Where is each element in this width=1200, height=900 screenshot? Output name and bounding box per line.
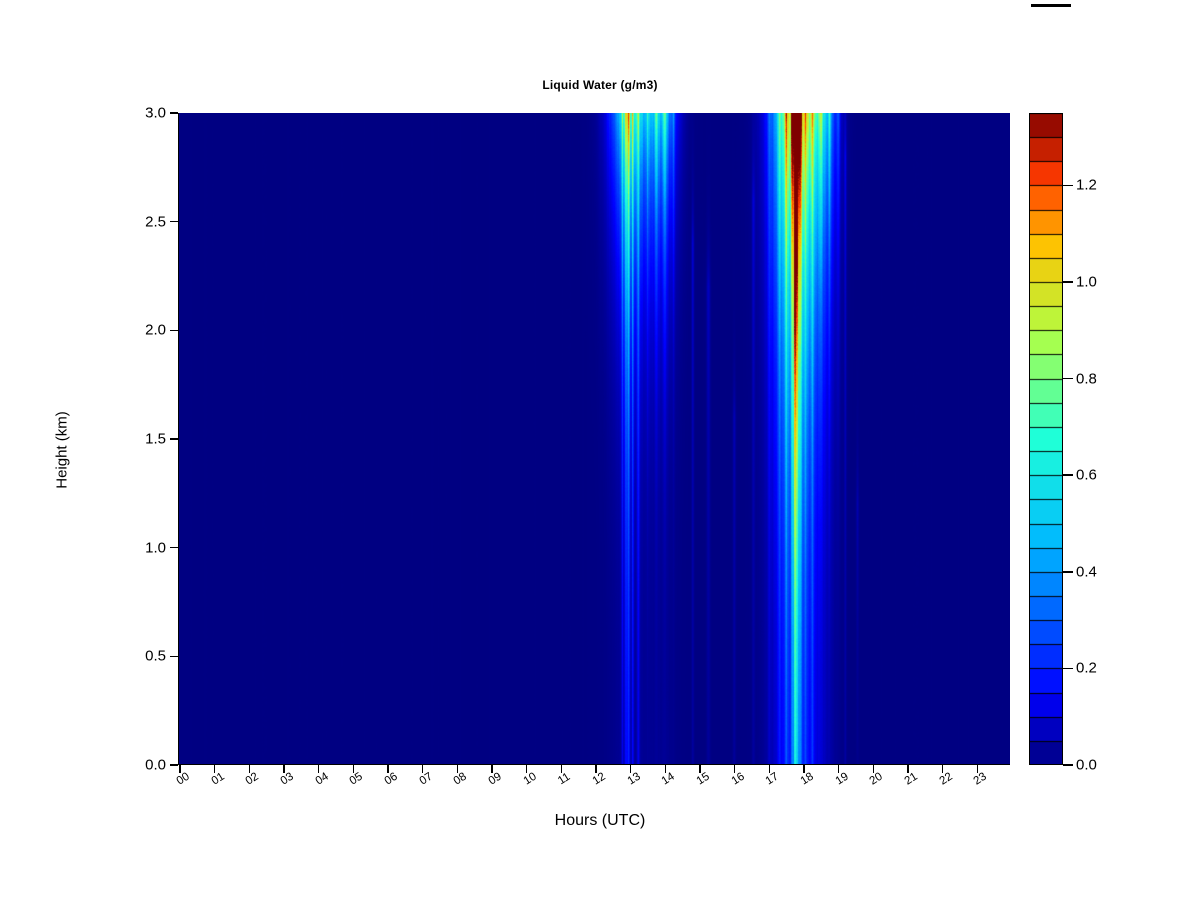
x-tick-mark <box>249 765 251 773</box>
colorbar-tick-label: 0.8 <box>1076 370 1097 387</box>
x-tick-mark <box>526 765 528 773</box>
x-tick-label: 10 <box>521 771 538 788</box>
y-tick-mark <box>170 656 178 658</box>
y-tick-mark <box>170 547 178 549</box>
colorbar-tick-mark <box>1063 764 1073 766</box>
x-tick-label: 16 <box>729 771 746 788</box>
y-tick-label: 3.0 <box>145 105 166 122</box>
x-tick-label: 21 <box>903 771 920 788</box>
y-tick-mark <box>170 112 178 114</box>
x-tick-label: 03 <box>279 771 296 788</box>
x-tick-mark <box>838 765 840 773</box>
x-tick-label: 04 <box>313 771 330 788</box>
x-tick-label: 06 <box>383 771 400 788</box>
x-axis-tick-marks <box>178 765 1010 773</box>
x-tick-mark <box>942 765 944 773</box>
y-tick-label: 1.5 <box>145 431 166 448</box>
plot-title: Liquid Water (g/m3) <box>0 78 1200 92</box>
top-right-marker <box>1031 4 1071 7</box>
colorbar-tick-label: 1.2 <box>1076 177 1097 194</box>
x-tick-label: 22 <box>937 771 954 788</box>
x-tick-label: 11 <box>556 771 572 788</box>
x-tick-mark <box>214 765 216 773</box>
y-tick-label: 1.0 <box>145 539 166 556</box>
colorbar-tick-label: 0.6 <box>1076 467 1097 484</box>
x-tick-label: 15 <box>695 771 712 788</box>
colorbar-tick-mark <box>1063 185 1073 187</box>
x-tick-label: 12 <box>591 771 608 788</box>
x-tick-mark <box>803 765 805 773</box>
colorbar-tick-mark <box>1063 474 1073 476</box>
colorbar-tick-marks <box>1063 113 1073 765</box>
colorbar-frame <box>1029 113 1063 765</box>
x-tick-mark <box>283 765 285 773</box>
x-tick-mark <box>699 765 701 773</box>
y-tick-label: 0.5 <box>145 648 166 665</box>
x-tick-mark <box>353 765 355 773</box>
x-tick-label: 05 <box>348 771 365 788</box>
x-tick-label: 20 <box>868 771 885 788</box>
x-tick-mark <box>422 765 424 773</box>
colorbar-tick-mark <box>1063 281 1073 283</box>
colorbar-tick-label: 0.2 <box>1076 660 1097 677</box>
x-tick-mark <box>907 765 909 773</box>
x-tick-label: 23 <box>972 771 989 788</box>
x-axis-title: Hours (UTC) <box>0 812 1200 830</box>
colorbar[interactable] <box>1029 113 1063 765</box>
colorbar-tick-mark <box>1063 378 1073 380</box>
x-tick-mark <box>561 765 563 773</box>
y-tick-mark <box>170 764 178 766</box>
x-tick-label: 08 <box>452 771 469 788</box>
x-tick-mark <box>387 765 389 773</box>
x-tick-mark <box>630 765 632 773</box>
figure-canvas: Liquid Water (g/m3) 0.00.51.01.52.02.53.… <box>0 0 1200 900</box>
x-tick-mark <box>769 765 771 773</box>
y-tick-mark <box>170 221 178 223</box>
x-tick-label: 00 <box>175 771 192 788</box>
x-tick-mark <box>491 765 493 773</box>
x-tick-label: 19 <box>833 771 850 788</box>
plot-axes-frame <box>178 113 1010 765</box>
y-axis-tick-labels: 0.00.51.01.52.02.53.0 <box>104 113 166 765</box>
y-axis-tick-marks <box>170 113 178 765</box>
x-tick-label: 02 <box>244 771 261 788</box>
x-tick-mark <box>977 765 979 773</box>
x-tick-mark <box>734 765 736 773</box>
x-tick-mark <box>318 765 320 773</box>
y-axis-title: Height (km) <box>54 411 71 489</box>
x-tick-label: 07 <box>417 771 434 788</box>
colorbar-tick-label: 0.4 <box>1076 563 1097 580</box>
x-tick-label: 01 <box>209 771 226 788</box>
colorbar-tick-mark <box>1063 668 1073 670</box>
colorbar-tick-mark <box>1063 571 1073 573</box>
x-tick-label: 14 <box>660 771 677 788</box>
y-tick-mark <box>170 330 178 332</box>
y-tick-label: 0.0 <box>145 757 166 774</box>
x-tick-label: 09 <box>487 771 504 788</box>
x-tick-mark <box>457 765 459 773</box>
colorbar-tick-label: 0.0 <box>1076 757 1097 774</box>
x-tick-mark <box>665 765 667 773</box>
y-tick-label: 2.5 <box>145 213 166 230</box>
x-tick-label: 17 <box>764 771 781 788</box>
colorbar-tick-label: 1.0 <box>1076 274 1097 291</box>
x-tick-mark <box>179 765 181 773</box>
x-tick-label: 18 <box>799 771 816 788</box>
x-tick-label: 13 <box>625 771 642 788</box>
x-tick-mark <box>873 765 875 773</box>
y-tick-label: 2.0 <box>145 322 166 339</box>
colorbar-tick-labels: 0.00.20.40.60.81.01.2 <box>1076 113 1136 765</box>
x-tick-mark <box>595 765 597 773</box>
y-tick-mark <box>170 438 178 440</box>
